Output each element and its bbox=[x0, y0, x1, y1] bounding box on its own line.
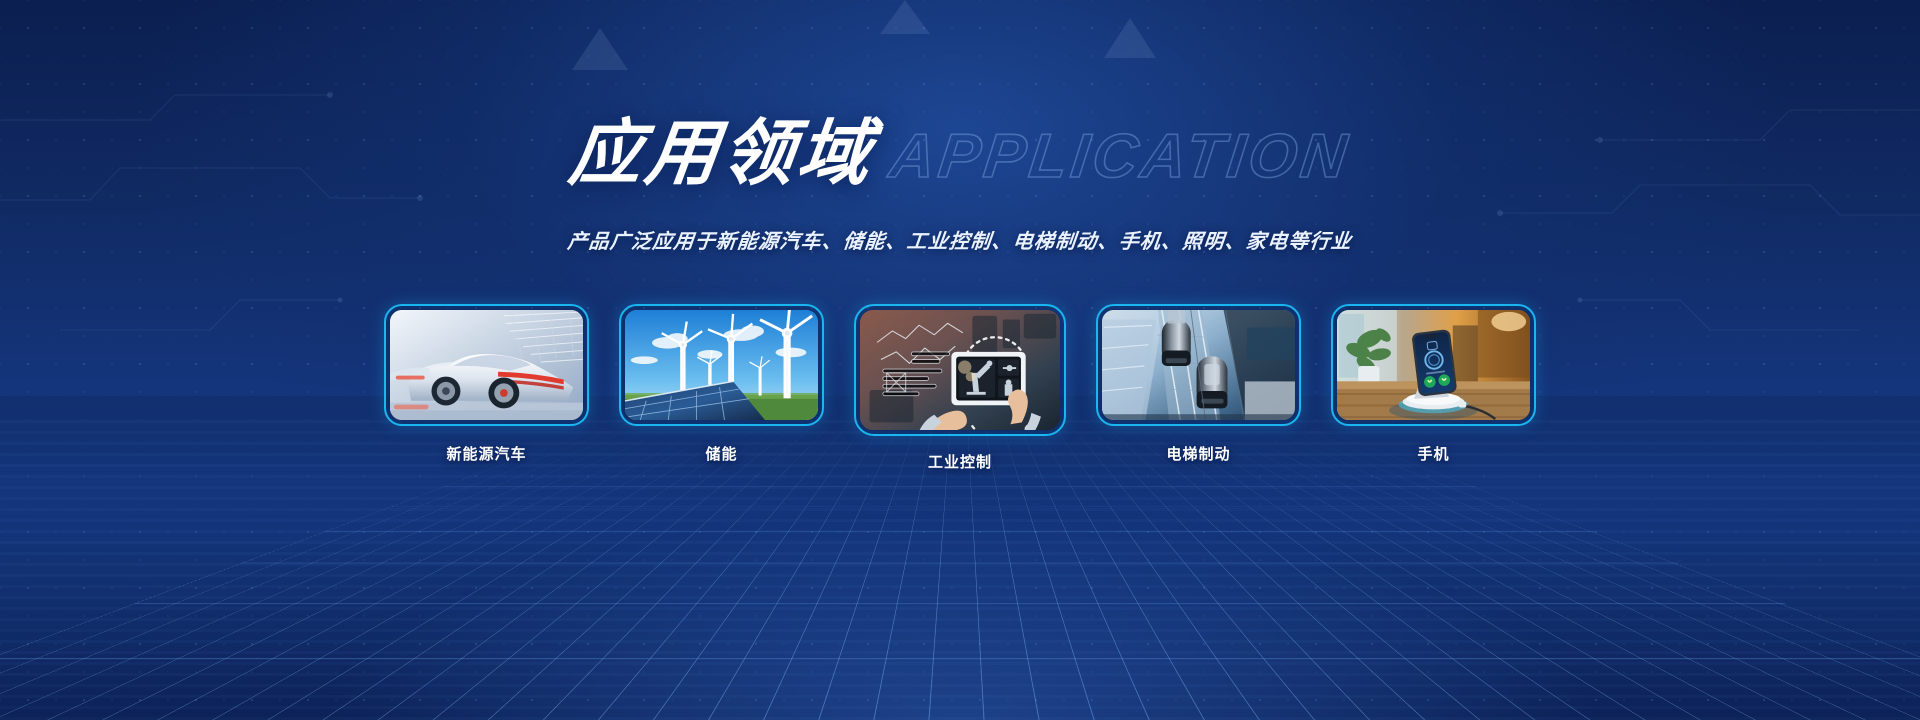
smartphone-wireless-charger-photo bbox=[1337, 310, 1530, 420]
page-title-english: APPLICATION bbox=[887, 126, 1354, 188]
application-card-industrial-control[interactable]: 工业控制 bbox=[854, 304, 1066, 472]
card-label: 新能源汽车 bbox=[446, 443, 526, 464]
application-card-list: 新能源汽车 bbox=[0, 304, 1920, 472]
application-card-new-energy-vehicle[interactable]: 新能源汽车 bbox=[384, 304, 589, 464]
application-card-energy-storage[interactable]: 储能 bbox=[619, 304, 824, 464]
card-frame bbox=[1331, 304, 1536, 426]
card-label: 手机 bbox=[1417, 443, 1449, 464]
electric-sports-car-photo bbox=[390, 310, 583, 420]
application-banner: 应用领域 APPLICATION 产品广泛应用于新能源汽车、储能、工业控制、电梯… bbox=[0, 0, 1920, 720]
card-label: 工业控制 bbox=[928, 451, 992, 472]
glass-elevator-shafts-photo bbox=[1102, 310, 1295, 420]
banner-heading: 应用领域 APPLICATION bbox=[0, 118, 1920, 190]
card-frame bbox=[384, 304, 589, 426]
page-title: 应用领域 bbox=[566, 118, 879, 190]
application-card-elevator-braking[interactable]: 电梯制动 bbox=[1096, 304, 1301, 464]
card-label: 电梯制动 bbox=[1166, 443, 1230, 464]
card-frame bbox=[854, 304, 1066, 436]
hands-holding-tablet-robot-arm-photo bbox=[860, 310, 1060, 430]
card-label: 储能 bbox=[705, 443, 737, 464]
application-card-mobile-phone[interactable]: 手机 bbox=[1331, 304, 1536, 464]
card-frame bbox=[619, 304, 824, 426]
card-frame bbox=[1096, 304, 1301, 426]
solar-panels-wind-turbines-photo bbox=[625, 310, 818, 420]
banner-subtitle: 产品广泛应用于新能源汽车、储能、工业控制、电梯制动、手机、照明、家电等行业 bbox=[0, 225, 1920, 254]
